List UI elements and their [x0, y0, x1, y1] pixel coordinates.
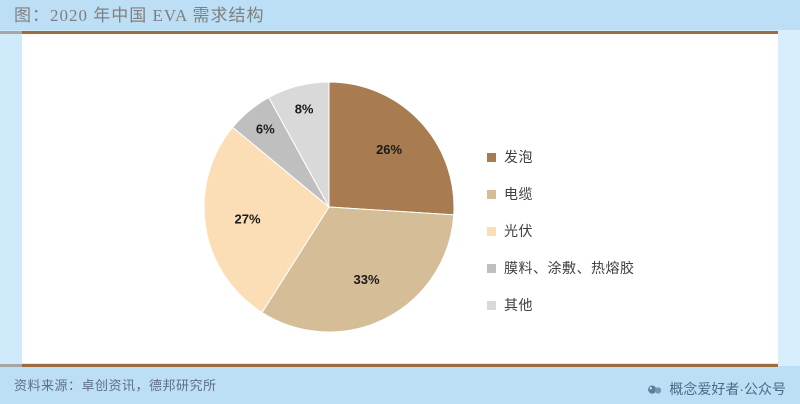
legend-item-label: 其他: [504, 295, 533, 315]
pie-slice-label: 6%: [256, 121, 275, 136]
legend-swatch-icon: [487, 227, 496, 236]
pie-slice-label: 26%: [376, 142, 402, 157]
pie-slice-label: 33%: [353, 272, 379, 287]
legend-item[interactable]: 膜料、涂敷、热熔胶: [487, 260, 737, 276]
source-note: 资料来源：卓创资讯，德邦研究所: [14, 375, 217, 394]
pie-chart: 26%33%27%6%8%: [182, 76, 472, 338]
legend-swatch-icon: [487, 264, 496, 273]
divider-bottom-brown-rule: [22, 364, 778, 367]
legend-item-label: 膜料、涂敷、热熔胶: [504, 258, 635, 278]
legend-swatch-icon: [487, 190, 496, 199]
watermark: 概念爱好者·公众号: [647, 379, 786, 399]
divider-top-gray-segment: [0, 31, 22, 34]
page-title: 图：2020 年中国 EVA 需求结构: [14, 5, 265, 27]
divider-bottom-gray-segment: [0, 364, 22, 367]
spheres-icon: [647, 383, 663, 396]
legend-item[interactable]: 发泡: [487, 149, 737, 165]
legend-swatch-icon: [487, 153, 496, 162]
left-background-band: [0, 30, 22, 366]
legend-item-label: 光伏: [504, 221, 533, 241]
pie-slice-group: [204, 82, 454, 332]
legend-swatch-icon: [487, 301, 496, 310]
legend-item-label: 发泡: [504, 147, 533, 167]
right-background-band: [778, 30, 800, 366]
legend-item[interactable]: 电缆: [487, 186, 737, 202]
watermark-label: 概念爱好者·公众号: [669, 379, 786, 399]
legend-item[interactable]: 其他: [487, 297, 737, 313]
chart-legend: 发泡电缆光伏膜料、涂敷、热熔胶其他: [487, 149, 737, 334]
legend-item-label: 电缆: [504, 184, 533, 204]
legend-item[interactable]: 光伏: [487, 223, 737, 239]
pie-slice-label: 8%: [295, 102, 314, 117]
pie-slice-label: 27%: [234, 211, 260, 226]
divider-bottom: [0, 363, 800, 367]
chart-card: 26%33%27%6%8% 发泡电缆光伏膜料、涂敷、热熔胶其他: [22, 34, 778, 363]
pie-chart-svg: 26%33%27%6%8%: [182, 76, 472, 338]
